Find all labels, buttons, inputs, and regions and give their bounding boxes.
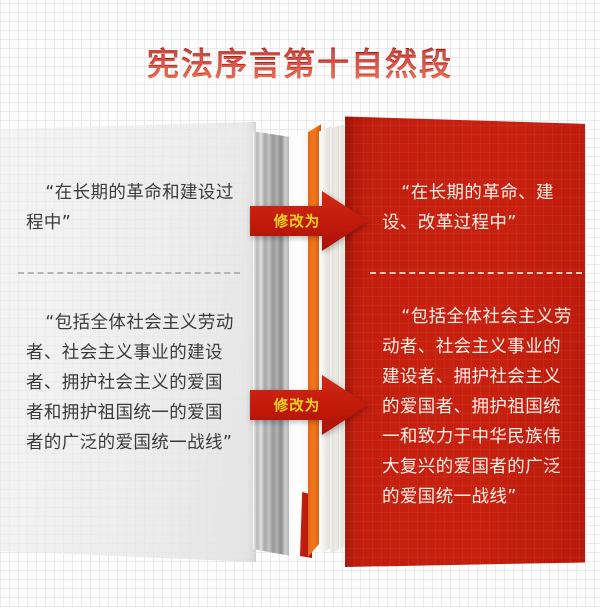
arrow-right-icon [250, 374, 368, 436]
spine-pale-strip-b [330, 122, 347, 558]
divider-right [370, 272, 582, 274]
original-quote-1-text: “在长期的革命和建设过程中” [26, 178, 238, 238]
revised-quote-1: “在长期的革命、建设、改革过程中” [382, 178, 578, 238]
revision-arrow-2: 修改为 [250, 374, 368, 436]
divider-left [18, 272, 240, 274]
spine-pale-strip-a [319, 123, 331, 557]
revised-quote-2: “包括全体社会主义劳动者、社会主义事业的建设者、拥护社会主义的爱国者、拥护祖国统… [382, 302, 578, 512]
revised-quote-1-text: “在长期的革命、建设、改革过程中” [382, 178, 578, 238]
original-quote-2-text: “包括全体社会主义劳动者、社会主义事业的建设者、拥护社会主义的爱国者和拥护祖国统… [26, 308, 238, 458]
book-illustration: “在长期的革命和建设过程中” “包括全体社会主义劳动者、社会主义事业的建设者、拥… [0, 112, 600, 567]
revised-quote-2-text: “包括全体社会主义劳动者、社会主义事业的建设者、拥护社会主义的爱国者、拥护祖国统… [382, 302, 578, 512]
original-quote-2: “包括全体社会主义劳动者、社会主义事业的建设者、拥护社会主义的爱国者和拥护祖国统… [26, 308, 238, 458]
revision-arrow-1: 修改为 [250, 190, 368, 252]
arrow-right-icon [250, 190, 368, 252]
original-quote-1: “在长期的革命和建设过程中” [26, 178, 238, 238]
page-title: 宪法序言第十自然段 [0, 42, 600, 86]
infographic-canvas: 宪法序言第十自然段 “在长期的革命和建设过程中” “包括全体社会主义劳动者、社会… [0, 0, 600, 607]
